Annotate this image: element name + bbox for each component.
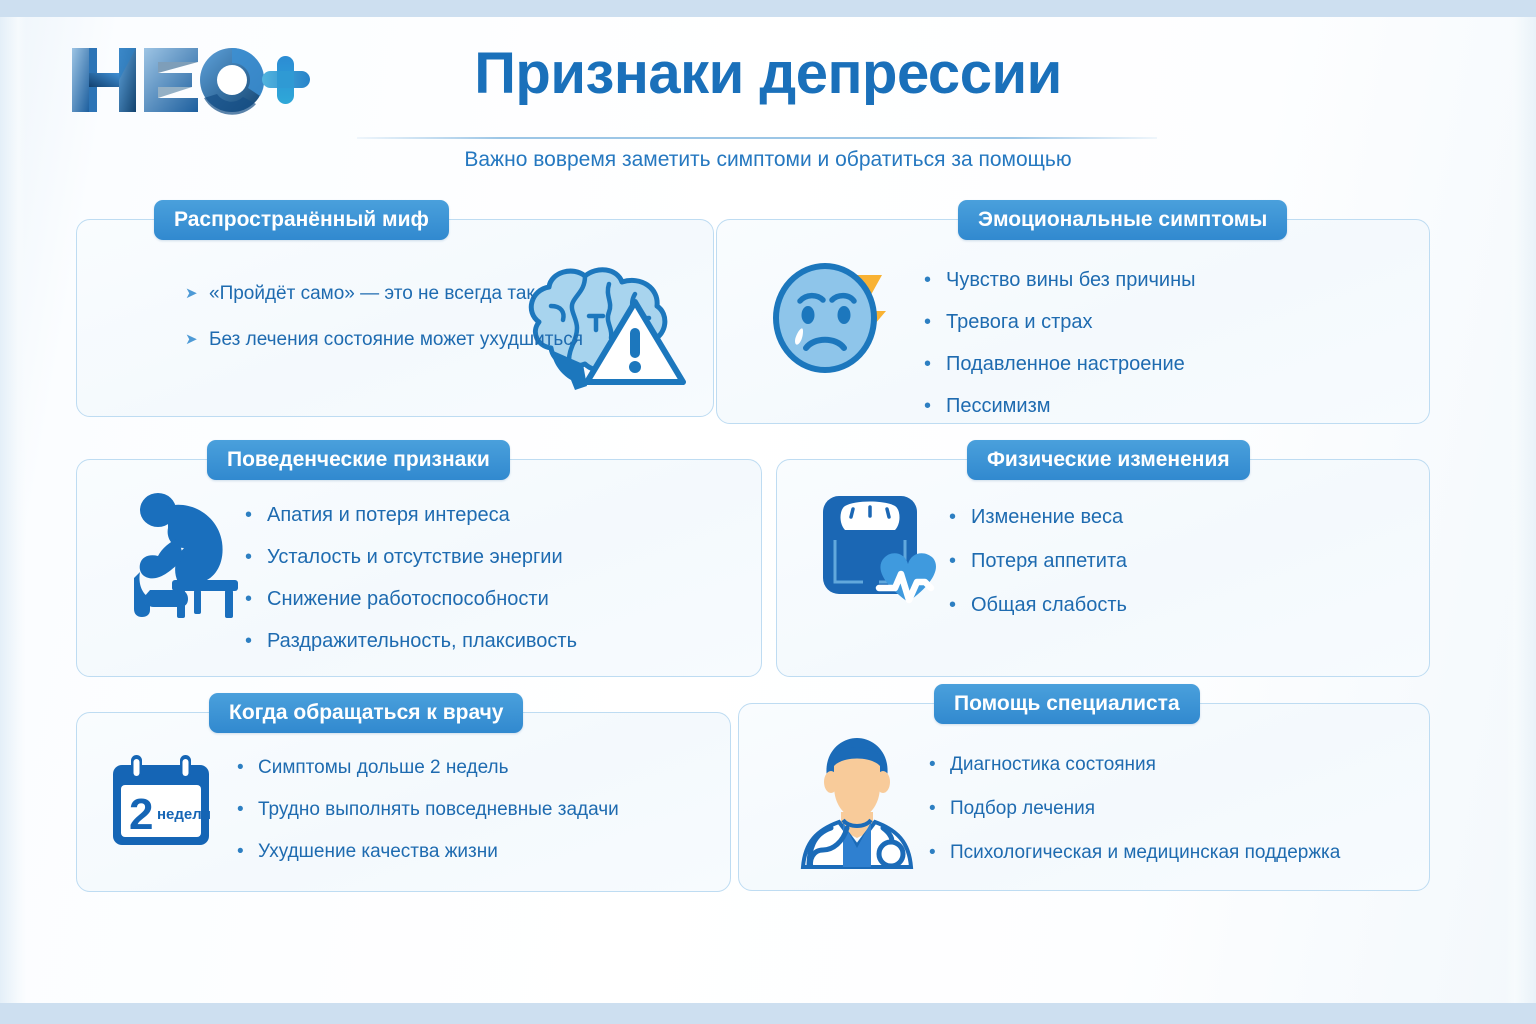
physical-list: • Изменение веса • Потеря аппетита • Общ… [949,504,1127,636]
bullet-dot-icon: • [949,592,971,618]
list-item: • Апатия и потеря интереса [245,502,577,528]
list-item: • Психологическая и медицинская поддержк… [929,840,1340,865]
list-item: • Снижение работоспособности [245,586,577,612]
when-list: • Симптомы дольше 2 недель • Трудно выпо… [237,755,619,881]
list-item: • Раздражительность, плаксивость [245,628,577,654]
card-physical-changes: Физические изменения • [776,459,1430,677]
calendar-number: 2 [129,790,153,839]
card-emotional-symptoms: Эмоциональные симптомы • Чувство вины бе… [716,219,1430,424]
bullet-dot-icon: • [237,755,258,780]
list-item: • Симптомы дольше 2 недель [237,755,619,780]
scale-heartbeat-icon [819,490,949,620]
infographic-page: Признаки депрессии Важно вовремя заметит… [0,0,1536,1024]
card-title-help: Помощь специалиста [934,684,1200,724]
list-item: • Пессимизм [924,393,1196,419]
sitting-person-icon [132,486,250,623]
arrow-bullet-icon: ➤ [185,282,209,306]
list-item: ➤ «Пройдёт само» — это не всегда так [185,282,583,306]
doctor-icon [787,734,927,874]
bullet-dot-icon: • [929,752,950,777]
bullet-dot-icon: • [924,267,946,293]
behavioral-list: • Апатия и потеря интереса • Усталость и… [245,502,577,670]
top-accent-bar [0,0,1536,17]
bullet-dot-icon: • [245,586,267,612]
list-item: • Подбор лечения [929,796,1340,821]
list-item: • Изменение веса [949,504,1127,530]
bullet-dot-icon: • [245,544,267,570]
bullet-dot-icon: • [237,839,258,864]
help-list: • Диагностика состояния • Подбор лечения… [929,752,1340,884]
list-item: • Диагностика состояния [929,752,1340,777]
bullet-dot-icon: • [924,351,946,377]
arrow-bullet-icon: ➤ [185,328,209,352]
card-title-when: Когда обращаться к врачу [209,693,523,733]
list-item: ➤ Без лечения состояние может ухудшиться [185,328,583,352]
list-item: • Подавленное настроение [924,351,1196,377]
list-item: • Потеря аппетита [949,548,1127,574]
list-item: • Чувство вины без причины [924,267,1196,293]
sad-face-lightning-icon [770,253,905,388]
header: Признаки депрессии Важно вовремя заметит… [0,17,1536,177]
bullet-dot-icon: • [949,548,971,574]
title-divider [357,137,1157,139]
bullet-dot-icon: • [929,796,950,821]
bullet-dot-icon: • [929,840,950,865]
card-title-physical: Физические изменения [967,440,1250,480]
bottom-accent-bar [0,1003,1536,1024]
bullet-dot-icon: • [245,502,267,528]
list-item: • Усталость и отсутствие энергии [245,544,577,570]
card-title-behavioral: Поведенческие признаки [207,440,510,480]
list-item: • Тревога и страх [924,309,1196,335]
page-title: Признаки депрессии [0,40,1536,107]
myth-list: ➤ «Пройдёт само» — это не всегда так ➤ Б… [185,282,583,374]
calendar-2-weeks-icon: 2 недели [105,753,217,858]
bullet-dot-icon: • [237,797,258,822]
list-item: • Общая слабость [949,592,1127,618]
card-title-emotional: Эмоциональные симптомы [958,200,1287,240]
page-subtitle: Важно вовремя заметить симптоми и обрати… [0,148,1536,172]
list-item: • Трудно выполнять повседневные задачи [237,797,619,822]
bullet-dot-icon: • [924,393,946,419]
bullet-dot-icon: • [924,309,946,335]
card-behavioral-signs: Поведенческие признаки [76,459,762,677]
bullet-dot-icon: • [949,504,971,530]
card-common-myth: Распространённый миф [76,219,714,417]
card-when-to-see-doctor: Когда обращаться к врачу 2 недели • Симп… [76,712,731,892]
calendar-unit-label: недели [157,806,211,823]
card-specialist-help: Помощь специалиста [738,703,1430,891]
bullet-dot-icon: • [245,628,267,654]
card-title-myth: Распространённый миф [154,200,449,240]
emotional-list: • Чувство вины без причины • Тревога и с… [924,267,1196,435]
list-item: • Ухудшение качества жизни [237,839,619,864]
